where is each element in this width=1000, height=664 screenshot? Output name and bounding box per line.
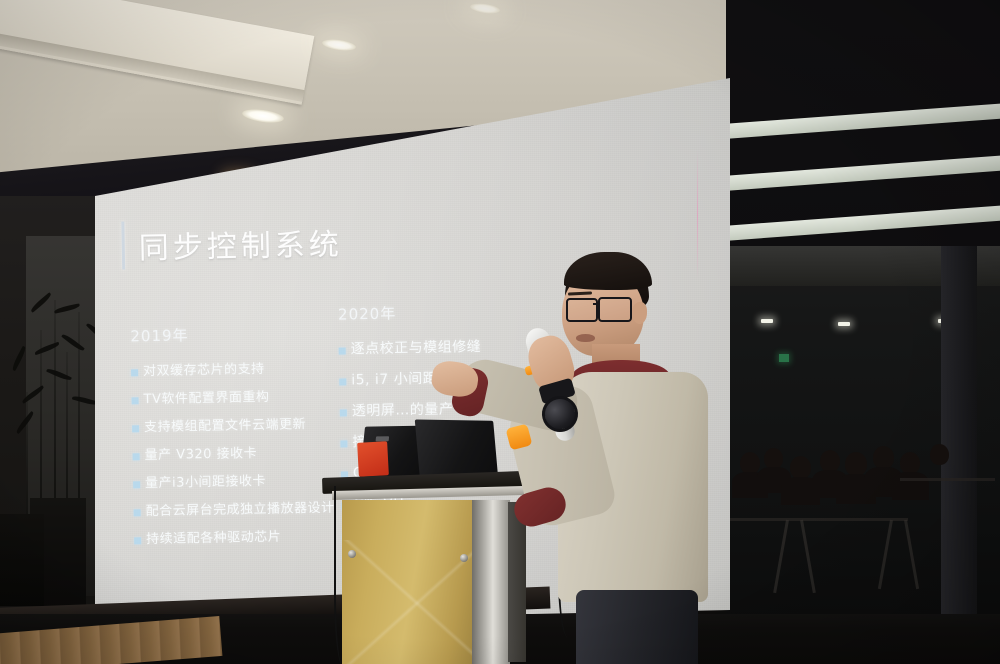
room-light-icon	[838, 322, 850, 326]
bullet-text: 量产 V320 接收卡	[144, 446, 257, 463]
bullet-square-icon	[339, 378, 346, 385]
bullet-square-icon	[133, 453, 140, 460]
slide-bullet-item: 量产 V320 接收卡	[132, 444, 362, 463]
bullet-text: TV软件配置界面重构	[143, 390, 269, 407]
bullet-square-icon	[131, 369, 138, 376]
bullet-text: 持续适配各种驱动芯片	[146, 530, 281, 547]
bullet-text: 量产i3小间距接收卡	[145, 474, 266, 491]
speaker-person	[480, 240, 730, 664]
bullet-text: 逐点校正与模组修缝	[351, 340, 482, 357]
glasses-bridge	[593, 303, 600, 305]
bullet-square-icon	[339, 347, 346, 354]
bullet-square-icon	[340, 409, 347, 416]
slide-title-block: 同步控制系统	[121, 217, 343, 269]
presentation-photo-scene: 同步控制系统 2019年 对双缓存芯片的支持 TV软件配置界面重构 支持模组配置…	[0, 0, 1000, 664]
exit-sign-icon	[779, 354, 789, 362]
podium-bolt-icon	[460, 554, 468, 562]
bullet-square-icon	[340, 440, 347, 447]
planter-box	[0, 514, 44, 606]
page-title: 同步控制系统	[138, 219, 343, 267]
bullet-square-icon	[134, 537, 141, 544]
bullet-text: 透明屏…的量产	[352, 402, 454, 419]
hair-front	[564, 252, 652, 290]
slide-bullet-item: TV软件配置界面重构	[131, 388, 361, 407]
bullet-text: 支持模组配置文件云端更新	[144, 417, 306, 435]
mouth	[576, 334, 595, 342]
title-accent-bar	[121, 221, 125, 269]
glasses-icon	[598, 297, 632, 322]
podium-front-panel	[342, 500, 492, 664]
column-heading: 2019年	[130, 321, 360, 346]
room-light-icon	[761, 319, 773, 323]
bullet-square-icon	[132, 425, 139, 432]
bullet-square-icon	[134, 509, 141, 516]
power-cable	[334, 486, 356, 664]
ear	[632, 302, 647, 324]
bullet-text: 对双缓存芯片的支持	[143, 362, 265, 379]
bullet-square-icon	[132, 397, 139, 404]
trousers	[576, 590, 698, 664]
glasses-icon	[566, 298, 598, 322]
bullet-text: 配合云屏台完成独立播放器设计	[145, 501, 334, 519]
red-object	[357, 441, 389, 477]
slide-bullet-item: 对双缓存芯片的支持	[131, 360, 361, 379]
slide-bullet-item: 支持模组配置文件云端更新	[132, 416, 362, 435]
bullet-square-icon	[133, 481, 140, 488]
